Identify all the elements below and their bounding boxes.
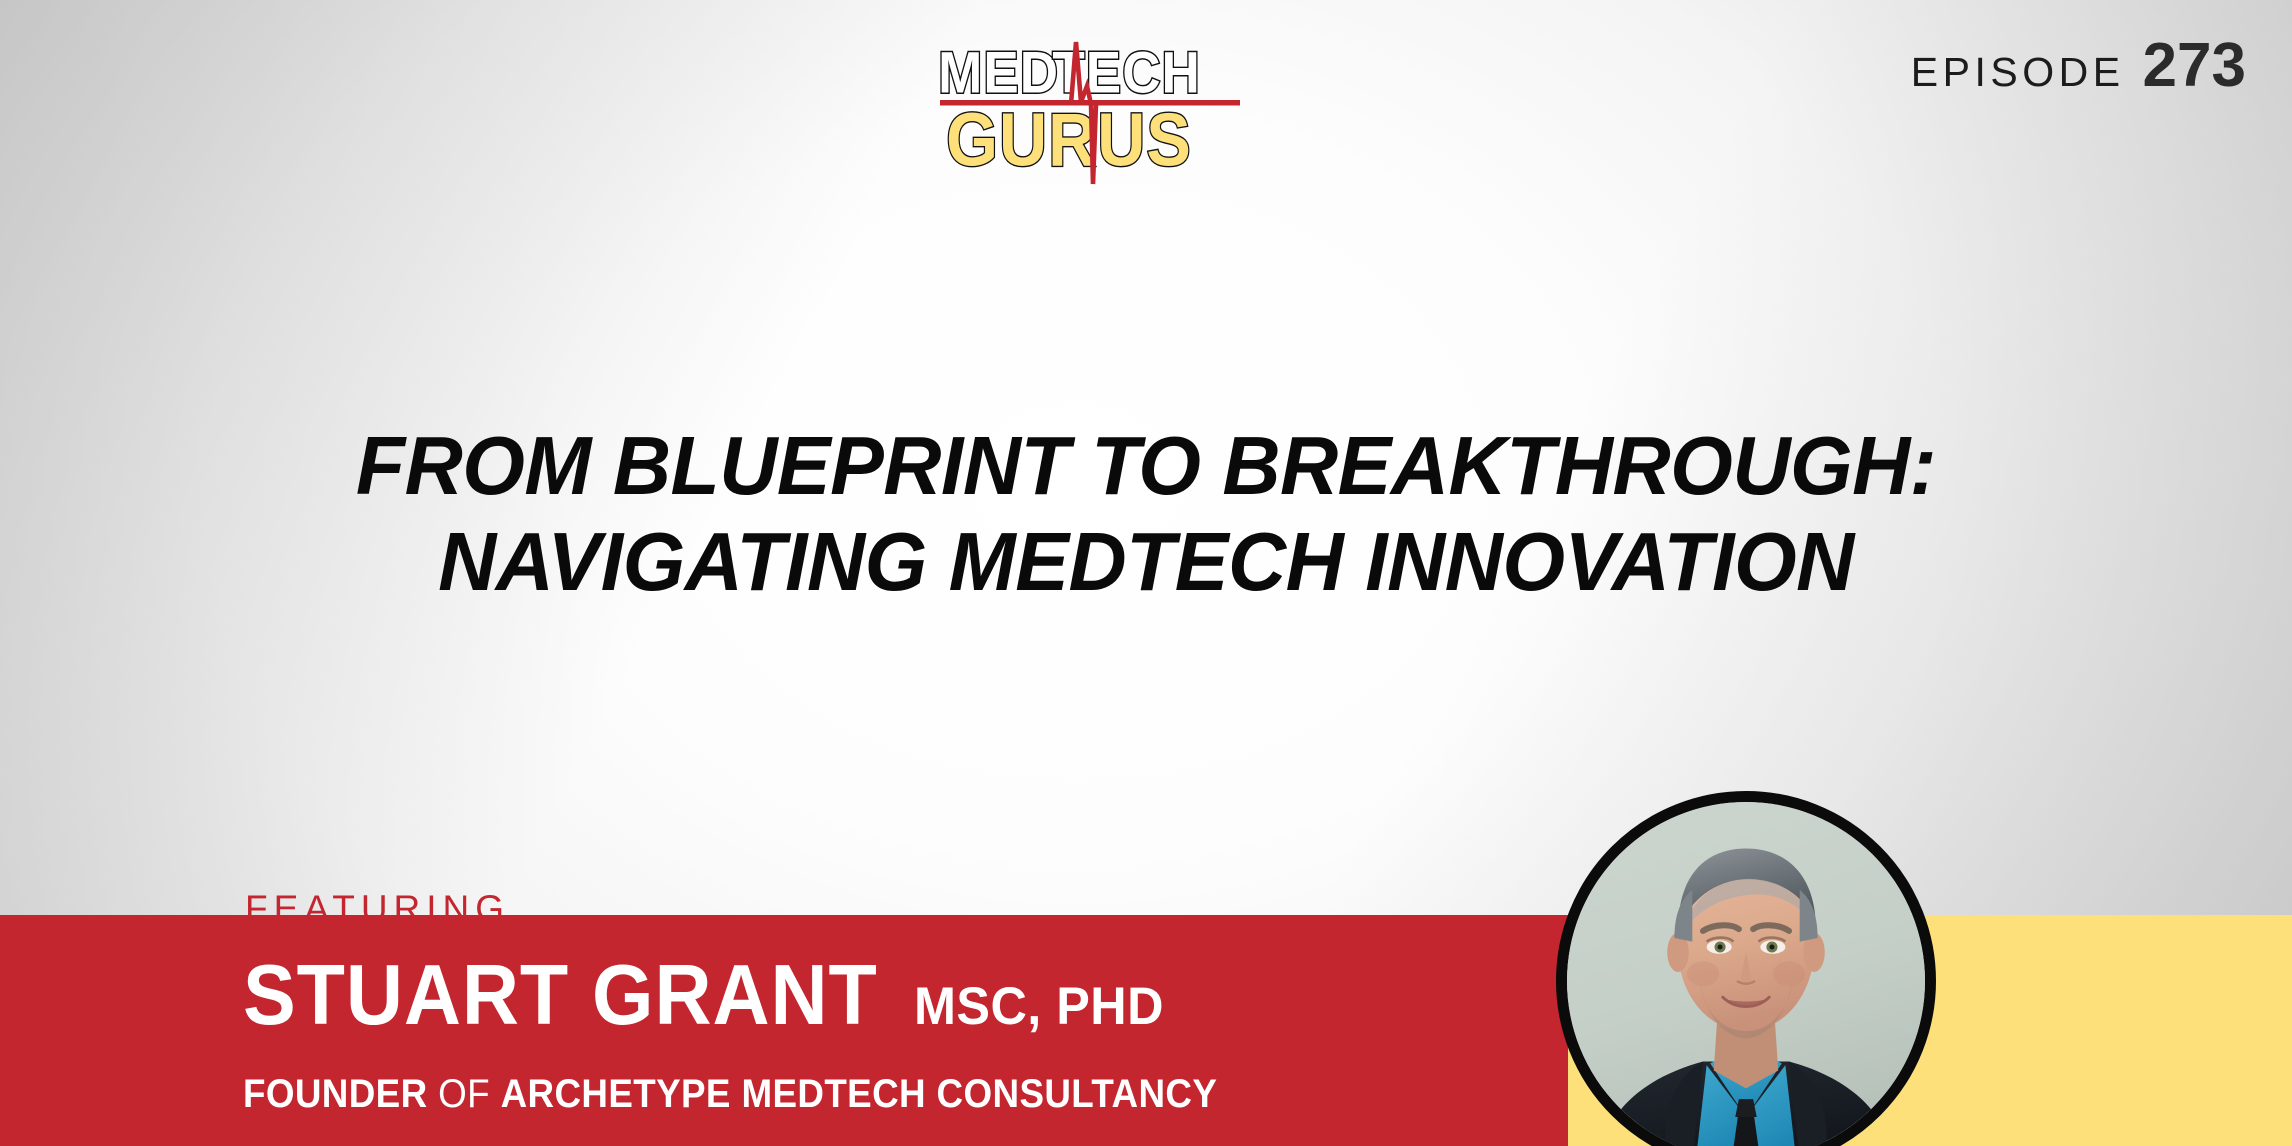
headshot-portrait-illustration (1567, 802, 1925, 1146)
guest-role-connector: OF (438, 1072, 490, 1116)
guest-role: FOUNDER OF ARCHETYPE MEDTECH CONSULTANCY (243, 1074, 1217, 1114)
episode-label: EPISODE (1911, 49, 2125, 96)
medtech-gurus-logo: MED TECH GURUS (930, 24, 1250, 184)
logo-wordmark-gurus: GURUS (946, 99, 1192, 183)
guest-avatar (1556, 791, 1936, 1146)
svg-text:GURUS: GURUS (946, 99, 1192, 183)
guest-name: STUART GRANT (243, 953, 878, 1038)
featuring-label: FEATURING (245, 888, 510, 930)
episode-title: FROM BLUEPRINT TO BREAKTHROUGH: NAVIGATI… (34, 418, 2257, 611)
guest-role-prefix: FOUNDER (243, 1072, 428, 1116)
svg-text:MED: MED (938, 40, 1059, 105)
episode-title-line-2: NAVIGATING MEDTECH INNOVATION (93, 514, 2200, 610)
episode-title-line-1: FROM BLUEPRINT TO BREAKTHROUGH: (93, 418, 2200, 514)
podcast-episode-graphic: MED TECH GURUS EPISODE 273 FROM BLUEPRIN… (0, 0, 2292, 1146)
guest-role-organization: ARCHETYPE MEDTECH CONSULTANCY (501, 1072, 1218, 1116)
episode-indicator: EPISODE 273 (1911, 38, 2246, 96)
guest-credentials: MSC, PHD (914, 980, 1164, 1033)
guest-identity: STUART GRANT MSC, PHD (243, 953, 1177, 1038)
episode-number: 273 (2143, 38, 2246, 94)
